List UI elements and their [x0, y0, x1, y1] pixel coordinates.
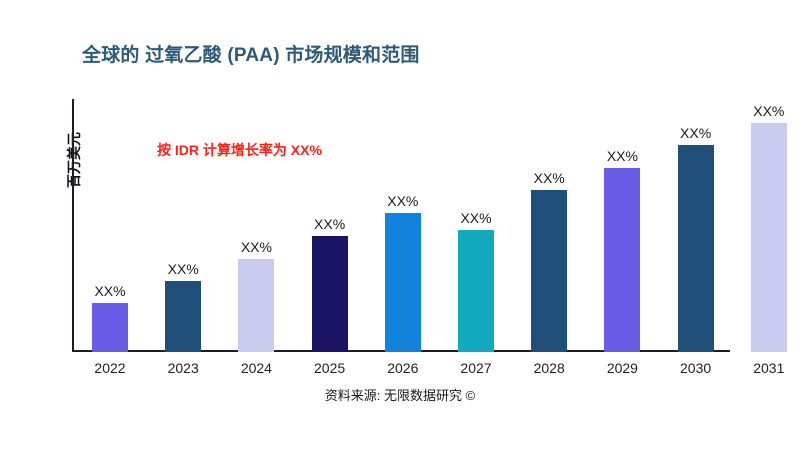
- bar-value-label-2022: XX%: [94, 283, 125, 299]
- bar-2029[interactable]: XX%: [604, 168, 640, 352]
- bar-rect-2026[interactable]: [385, 213, 421, 352]
- bar-value-label-2028: XX%: [534, 170, 565, 186]
- bar-rect-2022[interactable]: [92, 303, 128, 352]
- bar-rect-2027[interactable]: [458, 230, 494, 352]
- x-tick-2024: 2024: [241, 360, 272, 376]
- bar-rect-2023[interactable]: [165, 281, 201, 352]
- x-tick-2022: 2022: [94, 360, 125, 376]
- x-tick-2025: 2025: [314, 360, 345, 376]
- x-tick-2029: 2029: [607, 360, 638, 376]
- x-tick-2023: 2023: [168, 360, 199, 376]
- bar-2026[interactable]: XX%: [385, 213, 421, 352]
- bar-rect-2028[interactable]: [531, 190, 567, 352]
- bar-value-label-2025: XX%: [314, 216, 345, 232]
- bar-2030[interactable]: XX%: [678, 145, 714, 352]
- bar-rect-2029[interactable]: [604, 168, 640, 352]
- bar-2022[interactable]: XX%: [92, 303, 128, 352]
- bar-value-label-2029: XX%: [607, 148, 638, 164]
- chart-page: 全球的 过氧乙酸 (PAA) 市场规模和范围 百万美元 按 IDR 计算增长率为…: [0, 0, 800, 450]
- bar-rect-2024[interactable]: [238, 259, 274, 352]
- bar-2024[interactable]: XX%: [238, 259, 274, 352]
- x-tick-2026: 2026: [387, 360, 418, 376]
- bar-2025[interactable]: XX%: [312, 236, 348, 352]
- bar-2028[interactable]: XX%: [531, 190, 567, 352]
- bar-value-label-2030: XX%: [680, 125, 711, 141]
- bar-2023[interactable]: XX%: [165, 281, 201, 352]
- bar-value-label-2026: XX%: [387, 193, 418, 209]
- x-tick-2027: 2027: [460, 360, 491, 376]
- bar-2031[interactable]: XX%: [751, 123, 787, 352]
- bar-value-label-2027: XX%: [460, 210, 491, 226]
- page-title: 全球的 过氧乙酸 (PAA) 市场规模和范围: [82, 40, 420, 67]
- bar-rect-2031[interactable]: [751, 123, 787, 352]
- bar-2027[interactable]: XX%: [458, 230, 494, 352]
- source-note: 资料来源: 无限数据研究 ©: [0, 385, 800, 404]
- y-axis-line: [72, 99, 74, 352]
- bar-value-label-2024: XX%: [241, 239, 272, 255]
- bar-value-label-2023: XX%: [168, 261, 199, 277]
- x-tick-2028: 2028: [534, 360, 565, 376]
- x-tick-2030: 2030: [680, 360, 711, 376]
- bar-value-label-2031: XX%: [753, 103, 784, 119]
- bar-rect-2025[interactable]: [312, 236, 348, 352]
- bar-rect-2030[interactable]: [678, 145, 714, 352]
- x-tick-2031: 2031: [753, 360, 784, 376]
